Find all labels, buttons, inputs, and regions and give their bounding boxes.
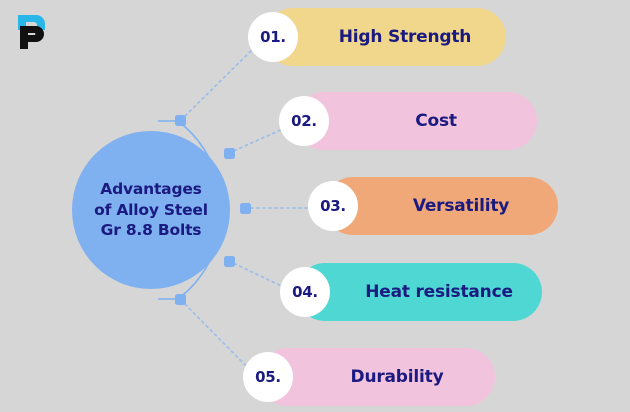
infographic-canvas: Advantages of Alloy Steel Gr 8.8 Bolts H… xyxy=(0,0,630,412)
item-pill[interactable]: Heat resistance xyxy=(296,263,542,321)
item-label: Durability xyxy=(259,367,495,387)
list-item[interactable]: Durability 05. xyxy=(0,348,630,406)
item-label: High Strength xyxy=(264,27,506,47)
item-label: Versatility xyxy=(324,196,558,216)
item-pill[interactable]: Cost xyxy=(295,92,537,150)
list-item[interactable]: Heat resistance 04. xyxy=(0,263,630,321)
item-number: 05. xyxy=(255,368,281,386)
item-number: 02. xyxy=(291,112,317,130)
item-number-badge: 03. xyxy=(308,181,358,231)
item-number-badge: 01. xyxy=(248,12,298,62)
item-number-badge: 04. xyxy=(280,267,330,317)
list-item[interactable]: Cost 02. xyxy=(0,92,630,150)
item-number-badge: 02. xyxy=(279,96,329,146)
center-hub: Advantages of Alloy Steel Gr 8.8 Bolts xyxy=(72,131,230,289)
item-number: 04. xyxy=(292,283,318,301)
item-number-badge: 05. xyxy=(243,352,293,402)
item-number: 03. xyxy=(320,197,346,215)
list-item[interactable]: High Strength 01. xyxy=(0,8,630,66)
item-label: Cost xyxy=(295,111,537,131)
item-pill[interactable]: Versatility xyxy=(324,177,558,235)
item-number: 01. xyxy=(260,28,286,46)
item-pill[interactable]: Durability xyxy=(259,348,495,406)
item-label: Heat resistance xyxy=(296,282,542,302)
item-pill[interactable]: High Strength xyxy=(264,8,506,66)
hub-title: Advantages of Alloy Steel Gr 8.8 Bolts xyxy=(88,179,214,240)
